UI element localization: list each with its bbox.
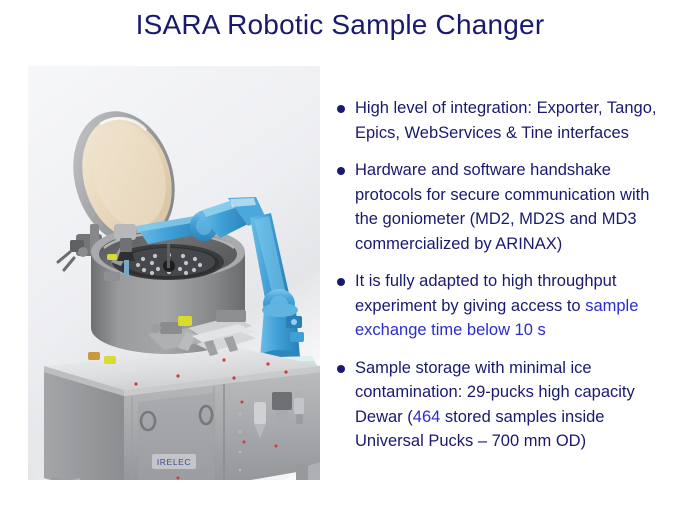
list-item: It is fully adapted to high throughput e… — [334, 269, 676, 343]
bullet-list: High level of integration: Exporter, Tan… — [334, 96, 676, 454]
svg-text:IRELEC: IRELEC — [157, 457, 191, 467]
slide-root: ISARA Robotic Sample Changer — [0, 0, 680, 510]
list-item: Sample storage with minimal ice contamin… — [334, 356, 676, 454]
list-item: Hardware and software handshake protocol… — [334, 158, 676, 256]
bullet-text-highlight: 464 — [413, 408, 441, 426]
bullet-text: Hardware and software handshake protocol… — [355, 158, 676, 256]
page-title: ISARA Robotic Sample Changer — [0, 8, 680, 42]
product-figure: IRELEC — [28, 66, 320, 480]
bullet-dot-icon — [337, 365, 345, 373]
brand-plate: IRELEC — [152, 454, 196, 469]
bullet-dot-icon — [337, 278, 345, 286]
bullet-text: It is fully adapted to high throughput e… — [355, 269, 676, 343]
bullet-text-plain: It is fully adapted to high throughput e… — [355, 272, 616, 315]
cad-render-svg: IRELEC — [28, 66, 320, 480]
bullet-text: High level of integration: Exporter, Tan… — [355, 96, 676, 145]
bullet-text: Sample storage with minimal ice contamin… — [355, 356, 676, 454]
bullet-dot-icon — [337, 167, 345, 175]
list-item: High level of integration: Exporter, Tan… — [334, 96, 676, 145]
bullet-dot-icon — [337, 105, 345, 113]
